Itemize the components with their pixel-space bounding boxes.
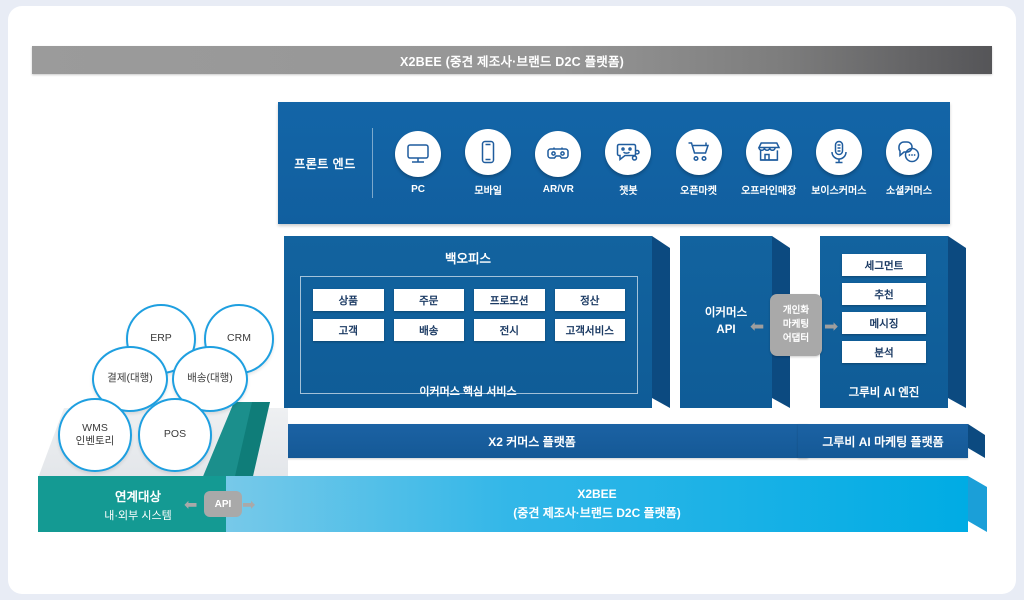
ai-engine-feature-chip[interactable]: 추천 — [842, 283, 926, 305]
backoffice-block-face: 백오피스 상품주문프로모션정산고객배송전시고객서비스 이커머스 핵심 서비스 — [284, 236, 652, 408]
external-system-label: 결제(대행) — [107, 372, 153, 385]
frontend-channel-vr-headset[interactable]: AR/VR — [523, 131, 593, 195]
frontend-panel: 프론트 엔드 PC모바일AR/VR챗봇오픈마켓오프라인매장보이스커머스소셜커머스 — [278, 102, 950, 224]
external-system-label: 배송(대행) — [187, 372, 233, 385]
external-system-label: POS — [164, 428, 186, 441]
storefront-icon — [746, 129, 792, 175]
groobee-ai-marketing-platform-label: 그루비 AI 마케팅 플랫폼 — [822, 433, 943, 450]
groobee-ai-marketing-platform-strip: 그루비 AI 마케팅 플랫폼 — [798, 424, 968, 458]
frontend-channel-smartphone[interactable]: 모바일 — [453, 129, 523, 197]
frontend-channel-microphone[interactable]: 보이스커머스 — [804, 129, 874, 197]
backoffice-service-chip[interactable]: 정산 — [555, 289, 626, 311]
adapter-line3: 어댑터 — [783, 332, 809, 346]
ai-engine-block-face: 세그먼트추천메시징분석 그루비 AI 엔진 — [820, 236, 948, 408]
frontend-label: 프론트 엔드 — [278, 155, 372, 172]
adapter-arrow-right-icon: ➡ — [824, 318, 838, 335]
external-system-label: WMS — [82, 422, 108, 435]
monitor-icon — [395, 131, 441, 177]
microphone-icon — [816, 129, 862, 175]
backoffice-service-grid: 상품주문프로모션정산고객배송전시고객서비스 — [313, 289, 625, 341]
ai-engine-block-side — [948, 236, 966, 408]
backoffice-service-chip[interactable]: 고객 — [313, 319, 384, 341]
backoffice-service-chip[interactable]: 배송 — [394, 319, 465, 341]
frontend-channel-label: 오프라인매장 — [741, 182, 796, 197]
adapter-line1: 개인화 — [783, 304, 809, 318]
ai-engine-block: 세그먼트추천메시징분석 그루비 AI 엔진 — [820, 236, 948, 408]
frontend-channel-label: AR/VR — [543, 184, 574, 195]
frontend-channel-shopping-cart[interactable]: 오픈마켓 — [664, 129, 734, 197]
frontend-channel-label: PC — [411, 184, 425, 195]
chatbot-icon — [605, 129, 651, 175]
adapter-line2: 마케팅 — [783, 318, 809, 332]
external-system-label: CRM — [227, 332, 251, 345]
api-arrow-right-icon: ➡ — [242, 495, 255, 515]
backoffice-service-chip[interactable]: 전시 — [474, 319, 545, 341]
external-system-pos: POS — [138, 398, 212, 472]
legacy-subtitle: 내·외부 시스템 — [104, 507, 171, 523]
frontend-channel-label: 보이스커머스 — [811, 182, 866, 197]
backoffice-block-side — [652, 236, 670, 408]
ai-engine-feature-chip[interactable]: 메시징 — [842, 312, 926, 334]
diagram-title-bar: X2BEE (중견 제조사·브랜드 D2C 플랫폼) — [32, 46, 992, 74]
frontend-channel-monitor[interactable]: PC — [383, 131, 453, 195]
legacy-title: 연계대상 — [115, 486, 161, 505]
frontend-channel-label: 챗봇 — [619, 182, 637, 197]
shopping-cart-icon — [676, 129, 722, 175]
diagram-title-text: X2BEE (중견 제조사·브랜드 D2C 플랫폼) — [400, 51, 624, 70]
adapter-arrow-left-icon: ⬅ — [750, 318, 764, 335]
api-arrow-left-icon: ⬅ — [184, 495, 197, 515]
ai-engine-footer-label: 그루비 AI 엔진 — [820, 384, 948, 400]
x2-commerce-platform-strip: X2 커머스 플랫폼 — [256, 424, 808, 458]
ai-engine-feature-chip[interactable]: 분석 — [842, 341, 926, 363]
frontend-channel-list: PC모바일AR/VR챗봇오픈마켓오프라인매장보이스커머스소셜커머스 — [373, 129, 950, 197]
ai-engine-feature-chip[interactable]: 세그먼트 — [842, 254, 926, 276]
frontend-channel-label: 소셜커머스 — [886, 182, 932, 197]
architecture-diagram: X2BEE (중견 제조사·브랜드 D2C 플랫폼) 프론트 엔드 PC모바일A… — [8, 6, 1016, 594]
x2bee-bar-line2: (중견 제조사·브랜드 D2C 플랫폼) — [513, 504, 680, 523]
backoffice-service-chip[interactable]: 주문 — [394, 289, 465, 311]
frontend-channel-label: 오픈마켓 — [680, 182, 717, 197]
frontend-channel-storefront[interactable]: 오프라인매장 — [734, 129, 804, 197]
x2bee-platform-bar: X2BEE (중견 제조사·브랜드 D2C 플랫폼) — [226, 476, 968, 532]
frontend-channel-label: 모바일 — [474, 182, 502, 197]
external-system-wms: WMS인벤토리 — [58, 398, 132, 472]
frontend-channel-speech-bubbles[interactable]: 소셜커머스 — [874, 129, 944, 197]
external-system-label: ERP — [150, 332, 172, 345]
x2-commerce-platform-label: X2 커머스 플랫폼 — [488, 433, 576, 450]
backoffice-block: 백오피스 상품주문프로모션정산고객배송전시고객서비스 이커머스 핵심 서비스 — [284, 236, 652, 408]
backoffice-services-frame: 상품주문프로모션정산고객배송전시고객서비스 — [300, 276, 638, 394]
ecommerce-api-line1: 이커머스 — [705, 305, 747, 322]
external-system-sublabel: 인벤토리 — [76, 435, 115, 448]
ai-engine-feature-list: 세그먼트추천메시징분석 — [842, 254, 926, 363]
ecommerce-api-line2: API — [716, 322, 735, 339]
vr-headset-icon — [535, 131, 581, 177]
x2bee-bar-line1: X2BEE — [577, 485, 616, 504]
backoffice-footer-label: 이커머스 핵심 서비스 — [284, 383, 652, 399]
backoffice-title: 백오피스 — [284, 248, 652, 267]
api-connector-badge: API — [204, 491, 242, 517]
smartphone-icon — [465, 129, 511, 175]
backoffice-service-chip[interactable]: 프로모션 — [474, 289, 545, 311]
backoffice-service-chip[interactable]: 상품 — [313, 289, 384, 311]
speech-bubbles-icon — [886, 129, 932, 175]
personalization-marketing-adapter: 개인화 마케팅 어댑터 — [770, 294, 822, 356]
frontend-channel-chatbot[interactable]: 챗봇 — [593, 129, 663, 197]
backoffice-service-chip[interactable]: 고객서비스 — [555, 319, 626, 341]
diagram-card: X2BEE (중견 제조사·브랜드 D2C 플랫폼) 프론트 엔드 PC모바일A… — [8, 6, 1016, 594]
